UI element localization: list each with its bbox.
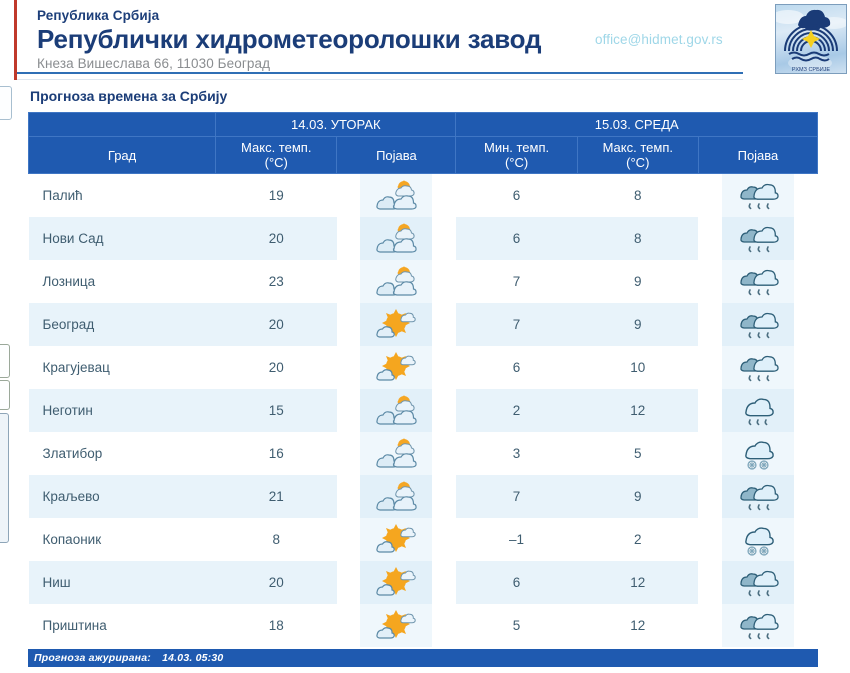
table-row: Копаоник8–12: [29, 518, 818, 561]
cloudy-with-small-sun-icon: [360, 217, 432, 260]
cell-day2-min: 5: [456, 604, 577, 647]
institute-title: Републички хидрометеоролошки завод: [37, 24, 850, 54]
page-edge-fragment: [0, 380, 10, 410]
cell-day1-max: 20: [216, 561, 337, 604]
cell-day1-phenomenon: [337, 389, 456, 432]
cloudy-with-small-sun-icon: [360, 475, 432, 518]
cell-day2-min: 6: [456, 561, 577, 604]
cell-day1-max: 21: [216, 475, 337, 518]
rain-cloud-single-icon: [722, 389, 794, 432]
rain-cloud-icon: [722, 217, 794, 260]
col-day2-phenomenon-line1: Појава: [701, 148, 815, 163]
snow-cloud-icon: [722, 432, 794, 475]
page-edge-fragment: [0, 344, 10, 378]
cell-day1-max: 20: [216, 217, 337, 260]
cell-day2-min: –1: [456, 518, 577, 561]
cell-city: Крагујевац: [29, 346, 216, 389]
cell-day2-min: 2: [456, 389, 577, 432]
rain-cloud-icon: [722, 174, 794, 217]
cell-city: Копаоник: [29, 518, 216, 561]
cell-day2-phenomenon: [698, 604, 817, 647]
cell-day2-max: 10: [577, 346, 698, 389]
cell-day1-max: 20: [216, 303, 337, 346]
col-day1-phenomenon: Појава: [337, 137, 456, 174]
page-edge-fragment: [0, 413, 9, 543]
cell-day1-max: 20: [216, 346, 337, 389]
cell-city: Неготин: [29, 389, 216, 432]
col-day1-max-line2: (°C): [218, 155, 334, 170]
cell-city: Краљево: [29, 475, 216, 518]
cell-day2-phenomenon: [698, 260, 817, 303]
rain-cloud-icon: [722, 303, 794, 346]
logo-caption: РХМЗ СРБИЈЕ: [792, 67, 830, 73]
cloudy-with-small-sun-icon: [360, 432, 432, 475]
col-day2-min-line2: (°C): [458, 155, 574, 170]
cell-day2-min: 6: [456, 346, 577, 389]
cell-day2-phenomenon: [698, 303, 817, 346]
snow-cloud-icon: [722, 518, 794, 561]
cell-day2-max: 9: [577, 303, 698, 346]
table-daygroup-row: 14.03. УТОРАК 15.03. СРЕДА: [29, 113, 818, 137]
cell-city: Приштина: [29, 604, 216, 647]
cell-day1-phenomenon: [337, 174, 456, 218]
country-label: Република Србија: [37, 8, 850, 23]
cell-day2-max: 12: [577, 389, 698, 432]
cell-day2-phenomenon: [698, 174, 817, 218]
forecast-updated-time: 14.03. 05:30: [162, 652, 223, 664]
cell-day2-phenomenon: [698, 475, 817, 518]
forecast-updated-bar: Прогноза ажурирана: 14.03. 05:30: [28, 649, 818, 667]
cell-city: Палић: [29, 174, 216, 218]
site-header: Република Србија Републички хидрометеоро…: [14, 0, 850, 80]
cell-day1-phenomenon: [337, 475, 456, 518]
contact-email-link[interactable]: office@hidmet.gov.rs: [595, 32, 723, 47]
cloudy-with-small-sun-icon: [360, 174, 432, 217]
table-row: Ниш20612: [29, 561, 818, 604]
table-row: Неготин15212: [29, 389, 818, 432]
cell-day1-phenomenon: [337, 346, 456, 389]
sunny-with-clouds-icon: [360, 346, 432, 389]
cell-day1-phenomenon: [337, 561, 456, 604]
table-row: Лозница2379: [29, 260, 818, 303]
forecast-updated-label: Прогноза ажурирана:: [34, 652, 151, 664]
cell-day2-min: 6: [456, 174, 577, 218]
cell-day2-max: 12: [577, 561, 698, 604]
table-row: Београд2079: [29, 303, 818, 346]
col-day2-min-line1: Мин. темп.: [458, 140, 574, 155]
forecast-table-wrapper: 14.03. УТОРАК 15.03. СРЕДА Град Макс. те…: [28, 112, 818, 647]
cell-day1-max: 16: [216, 432, 337, 475]
sunny-with-clouds-icon: [360, 561, 432, 604]
cell-day2-phenomenon: [698, 389, 817, 432]
rain-cloud-icon: [722, 260, 794, 303]
cell-day1-phenomenon: [337, 432, 456, 475]
cell-city: Нови Сад: [29, 217, 216, 260]
cell-day2-max: 8: [577, 174, 698, 218]
rain-cloud-icon: [722, 604, 794, 647]
col-city: Град: [29, 137, 216, 174]
page-title: Прогноза времена за Србију: [30, 88, 850, 104]
daygroup-day1: 14.03. УТОРАК: [216, 113, 456, 137]
cell-day2-max: 5: [577, 432, 698, 475]
cell-day2-phenomenon: [698, 432, 817, 475]
hidmet-emblem-icon: РХМЗ СРБИЈЕ: [775, 4, 847, 74]
cell-day1-max: 15: [216, 389, 337, 432]
cell-day1-max: 18: [216, 604, 337, 647]
cell-day2-phenomenon: [698, 217, 817, 260]
col-day2-max-line1: Макс. темп.: [580, 140, 696, 155]
header-divider: [17, 72, 743, 74]
cell-day1-phenomenon: [337, 303, 456, 346]
table-row: Крагујевац20610: [29, 346, 818, 389]
cell-day2-min: 7: [456, 303, 577, 346]
cell-day2-phenomenon: [698, 561, 817, 604]
cell-day1-phenomenon: [337, 518, 456, 561]
cell-day2-max: 8: [577, 217, 698, 260]
header-divider-light: [17, 79, 743, 80]
cell-day2-phenomenon: [698, 518, 817, 561]
col-day2-phenomenon: Појава: [698, 137, 817, 174]
cell-day2-max: 9: [577, 260, 698, 303]
col-city-line1: Град: [31, 148, 213, 163]
cell-city: Ниш: [29, 561, 216, 604]
daygroup-blank: [29, 113, 216, 137]
table-header-row: Град Макс. темп. (°C) Појава Мин. темп. …: [29, 137, 818, 174]
cell-city: Београд: [29, 303, 216, 346]
table-row: Палић1968: [29, 174, 818, 218]
rain-cloud-icon: [722, 475, 794, 518]
col-day1-phenomenon-line1: Појава: [339, 148, 453, 163]
cell-day1-phenomenon: [337, 604, 456, 647]
cell-day2-min: 7: [456, 475, 577, 518]
cell-day2-min: 7: [456, 260, 577, 303]
forecast-table-body: Палић1968Нови Сад2068Лозница2379Београд2…: [29, 174, 818, 648]
forecast-table: 14.03. УТОРАК 15.03. СРЕДА Град Макс. те…: [28, 112, 818, 647]
col-day1-max: Макс. темп. (°C): [216, 137, 337, 174]
cloudy-with-small-sun-icon: [360, 260, 432, 303]
table-row: Нови Сад2068: [29, 217, 818, 260]
cell-day1-phenomenon: [337, 217, 456, 260]
cell-day1-max: 8: [216, 518, 337, 561]
cell-day2-min: 6: [456, 217, 577, 260]
cell-city: Златибор: [29, 432, 216, 475]
daygroup-day2: 15.03. СРЕДА: [456, 113, 818, 137]
rain-cloud-icon: [722, 561, 794, 604]
rain-cloud-icon: [722, 346, 794, 389]
cell-day2-phenomenon: [698, 346, 817, 389]
cell-day1-phenomenon: [337, 260, 456, 303]
sunny-with-clouds-icon: [360, 604, 432, 647]
col-day2-max-line2: (°C): [580, 155, 696, 170]
cell-day1-max: 23: [216, 260, 337, 303]
cloudy-with-small-sun-icon: [360, 389, 432, 432]
sunny-with-clouds-icon: [360, 518, 432, 561]
cell-day2-min: 3: [456, 432, 577, 475]
cell-city: Лозница: [29, 260, 216, 303]
table-row: Приштина18512: [29, 604, 818, 647]
col-day2-min: Мин. темп. (°C): [456, 137, 577, 174]
page-edge-fragment: [0, 86, 12, 120]
cell-day2-max: 2: [577, 518, 698, 561]
sunny-with-clouds-icon: [360, 303, 432, 346]
address-label: Кнеза Вишеслава 66, 11030 Београд: [37, 56, 850, 71]
col-day1-max-line1: Макс. темп.: [218, 140, 334, 155]
table-row: Златибор1635: [29, 432, 818, 475]
cell-day1-max: 19: [216, 174, 337, 218]
col-day2-max: Макс. темп. (°C): [577, 137, 698, 174]
cell-day2-max: 12: [577, 604, 698, 647]
table-row: Краљево2179: [29, 475, 818, 518]
cell-day2-max: 9: [577, 475, 698, 518]
